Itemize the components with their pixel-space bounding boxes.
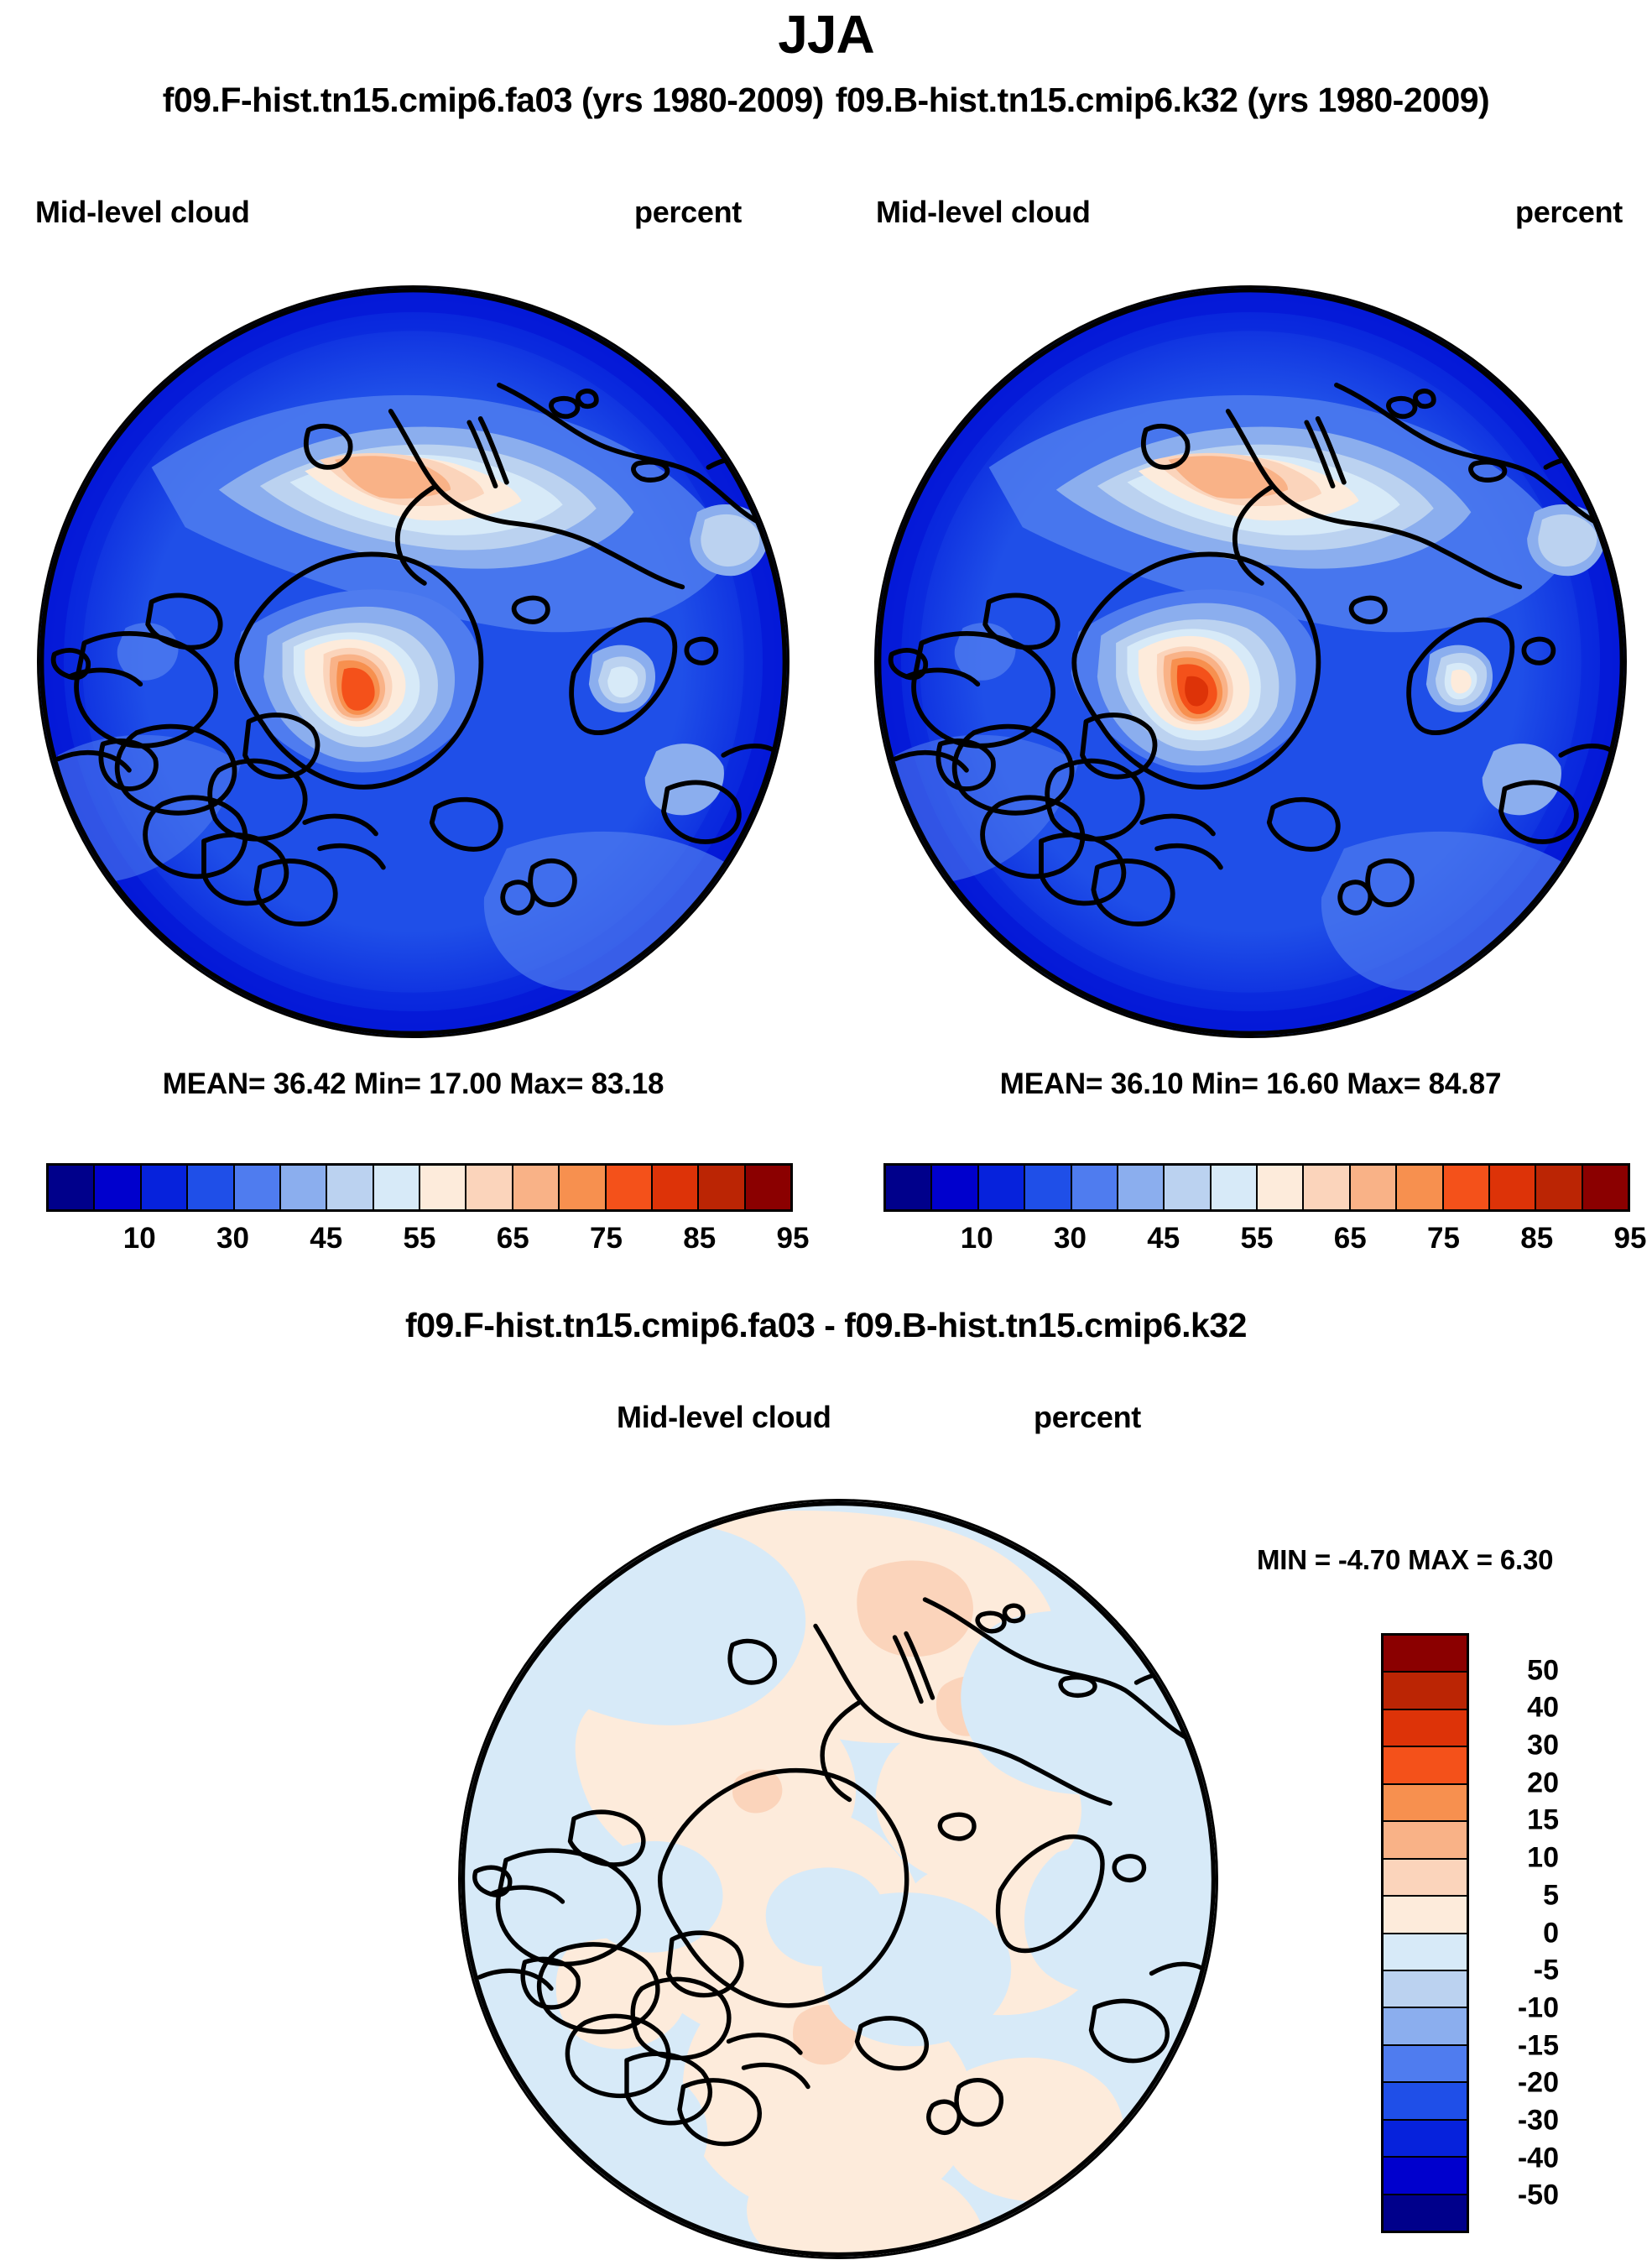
- colorbar-tick-label: -40: [1483, 2142, 1559, 2174]
- colorbar-cell: [1384, 1747, 1467, 1784]
- colorbar-tick-label: 95: [777, 1222, 810, 1255]
- right-panel-field-label: Mid-level cloud: [876, 195, 1091, 230]
- colorbar-cell: [327, 1166, 373, 1209]
- colorbar-tick-label: 5: [1483, 1879, 1559, 1912]
- colorbar-cell: [1165, 1166, 1211, 1209]
- colorbar-left-labels: 1030455565758595: [46, 1222, 793, 1260]
- colorbar-cell: [1384, 1710, 1467, 1747]
- colorbar-cell: [1536, 1166, 1582, 1209]
- colorbar-cell: [560, 1166, 606, 1209]
- map-diff-panel[interactable]: [458, 1499, 1218, 2259]
- colorbar-tick-label: -30: [1483, 2104, 1559, 2137]
- colorbar-left[interactable]: [46, 1163, 793, 1212]
- map-right-panel[interactable]: [874, 285, 1627, 1038]
- colorbar-cell: [49, 1166, 95, 1209]
- colorbar-cell: [1384, 2008, 1467, 2045]
- right-panel-unit-label: percent: [1515, 195, 1623, 230]
- map-right-svg: [877, 288, 1624, 1036]
- colorbar-cell: [1384, 1822, 1467, 1859]
- colorbar-cell: [886, 1166, 932, 1209]
- colorbar-diff[interactable]: [1381, 1633, 1469, 2233]
- colorbar-cell: [1384, 1673, 1467, 1709]
- left-panel-field-label: Mid-level cloud: [35, 195, 250, 230]
- colorbar-cell: [932, 1166, 978, 1209]
- colorbar-tick-label: 75: [590, 1222, 623, 1255]
- colorbar-cell: [1384, 1860, 1467, 1897]
- map-left-svg: [39, 288, 787, 1036]
- case-title-right: f09.B-hist.tn15.cmip6.k32 (yrs 1980-2009…: [836, 81, 1489, 119]
- colorbar-tick-label: 95: [1614, 1222, 1647, 1255]
- colorbar-cell: [1351, 1166, 1397, 1209]
- diff-panel-field-label: Mid-level cloud: [617, 1400, 831, 1435]
- colorbar-tick-label: 10: [961, 1222, 993, 1255]
- colorbar-cell: [1072, 1166, 1118, 1209]
- colorbar-cell: [1118, 1166, 1165, 1209]
- colorbar-cell: [1444, 1166, 1490, 1209]
- colorbar-cell: [1384, 2121, 1467, 2158]
- colorbar-tick-label: 55: [404, 1222, 436, 1255]
- colorbar-tick-label: 30: [1483, 1730, 1559, 1762]
- colorbar-cell: [281, 1166, 327, 1209]
- colorbar-cell: [1384, 1897, 1467, 1934]
- colorbar-tick-label: 55: [1241, 1222, 1274, 1255]
- colorbar-cell: [1258, 1166, 1304, 1209]
- left-panel-unit-label: percent: [634, 195, 742, 230]
- page-title: JJA: [0, 3, 1652, 65]
- diff-panel-unit-label: percent: [1034, 1400, 1141, 1435]
- colorbar-tick-label: 50: [1483, 1654, 1559, 1687]
- colorbar-cell: [979, 1166, 1025, 1209]
- colorbar-cell: [1384, 2158, 1467, 2195]
- colorbar-tick-label: 65: [497, 1222, 529, 1255]
- colorbar-cell: [1384, 2195, 1467, 2231]
- diff-title: f09.F-hist.tn15.cmip6.fa03 - f09.B-hist.…: [0, 1306, 1652, 1345]
- colorbar-cell: [188, 1166, 234, 1209]
- colorbar-diff-labels: 50403020151050-5-10-15-20-30-40-50: [1483, 1633, 1576, 2233]
- colorbar-tick-label: 85: [1520, 1222, 1553, 1255]
- colorbar-cell: [1212, 1166, 1258, 1209]
- colorbar-cell: [1490, 1166, 1536, 1209]
- diff-minmax-label: MIN = -4.70 MAX = 6.30: [1257, 1544, 1553, 1576]
- colorbar-tick-label: 15: [1483, 1804, 1559, 1837]
- colorbar-cell: [95, 1166, 141, 1209]
- colorbar-right[interactable]: [883, 1163, 1630, 1212]
- right-panel-stats: MEAN= 36.10 Min= 16.60 Max= 84.87: [874, 1067, 1627, 1101]
- colorbar-cell: [1384, 2046, 1467, 2083]
- colorbar-cell: [235, 1166, 281, 1209]
- colorbar-cell: [1384, 1785, 1467, 1822]
- colorbar-tick-label: 45: [310, 1222, 342, 1255]
- colorbar-tick-label: 45: [1147, 1222, 1180, 1255]
- colorbar-cell: [142, 1166, 188, 1209]
- colorbar-tick-label: -20: [1483, 2067, 1559, 2100]
- colorbar-tick-label: 75: [1427, 1222, 1460, 1255]
- colorbar-cell: [1384, 1971, 1467, 2008]
- colorbar-tick-label: 20: [1483, 1767, 1559, 1799]
- colorbar-cell: [513, 1166, 560, 1209]
- colorbar-tick-label: 10: [1483, 1842, 1559, 1875]
- colorbar-tick-label: -50: [1483, 2179, 1559, 2212]
- colorbar-cell: [746, 1166, 790, 1209]
- colorbar-cell: [1583, 1166, 1628, 1209]
- colorbar-cell: [420, 1166, 466, 1209]
- colorbar-tick-label: -15: [1483, 2029, 1559, 2062]
- colorbar-tick-label: 65: [1334, 1222, 1367, 1255]
- case-title-left: f09.F-hist.tn15.cmip6.fa03 (yrs 1980-200…: [163, 81, 824, 119]
- colorbar-tick-label: -5: [1483, 1955, 1559, 1987]
- colorbar-cell: [1384, 1934, 1467, 1971]
- colorbar-cell: [1384, 1636, 1467, 1673]
- colorbar-tick-label: 0: [1483, 1917, 1559, 1949]
- colorbar-tick-label: 30: [1054, 1222, 1087, 1255]
- colorbar-cell: [607, 1166, 653, 1209]
- colorbar-tick-label: 10: [123, 1222, 156, 1255]
- colorbar-cell: [1397, 1166, 1443, 1209]
- colorbar-tick-label: -10: [1483, 1991, 1559, 2024]
- colorbar-cell: [1304, 1166, 1350, 1209]
- colorbar-cell: [466, 1166, 513, 1209]
- colorbar-cell: [653, 1166, 699, 1209]
- map-left-panel[interactable]: [37, 285, 790, 1038]
- colorbar-tick-label: 30: [216, 1222, 249, 1255]
- colorbar-cell: [1025, 1166, 1071, 1209]
- colorbar-tick-label: 40: [1483, 1692, 1559, 1725]
- case-titles-row: f09.F-hist.tn15.cmip6.fa03 (yrs 1980-200…: [0, 81, 1652, 120]
- colorbar-tick-label: 85: [683, 1222, 716, 1255]
- colorbar-cell: [374, 1166, 420, 1209]
- left-panel-stats: MEAN= 36.42 Min= 17.00 Max= 83.18: [37, 1067, 790, 1101]
- colorbar-right-labels: 1030455565758595: [883, 1222, 1630, 1260]
- colorbar-cell: [1384, 2083, 1467, 2120]
- map-diff-svg: [461, 1501, 1216, 2257]
- colorbar-cell: [699, 1166, 745, 1209]
